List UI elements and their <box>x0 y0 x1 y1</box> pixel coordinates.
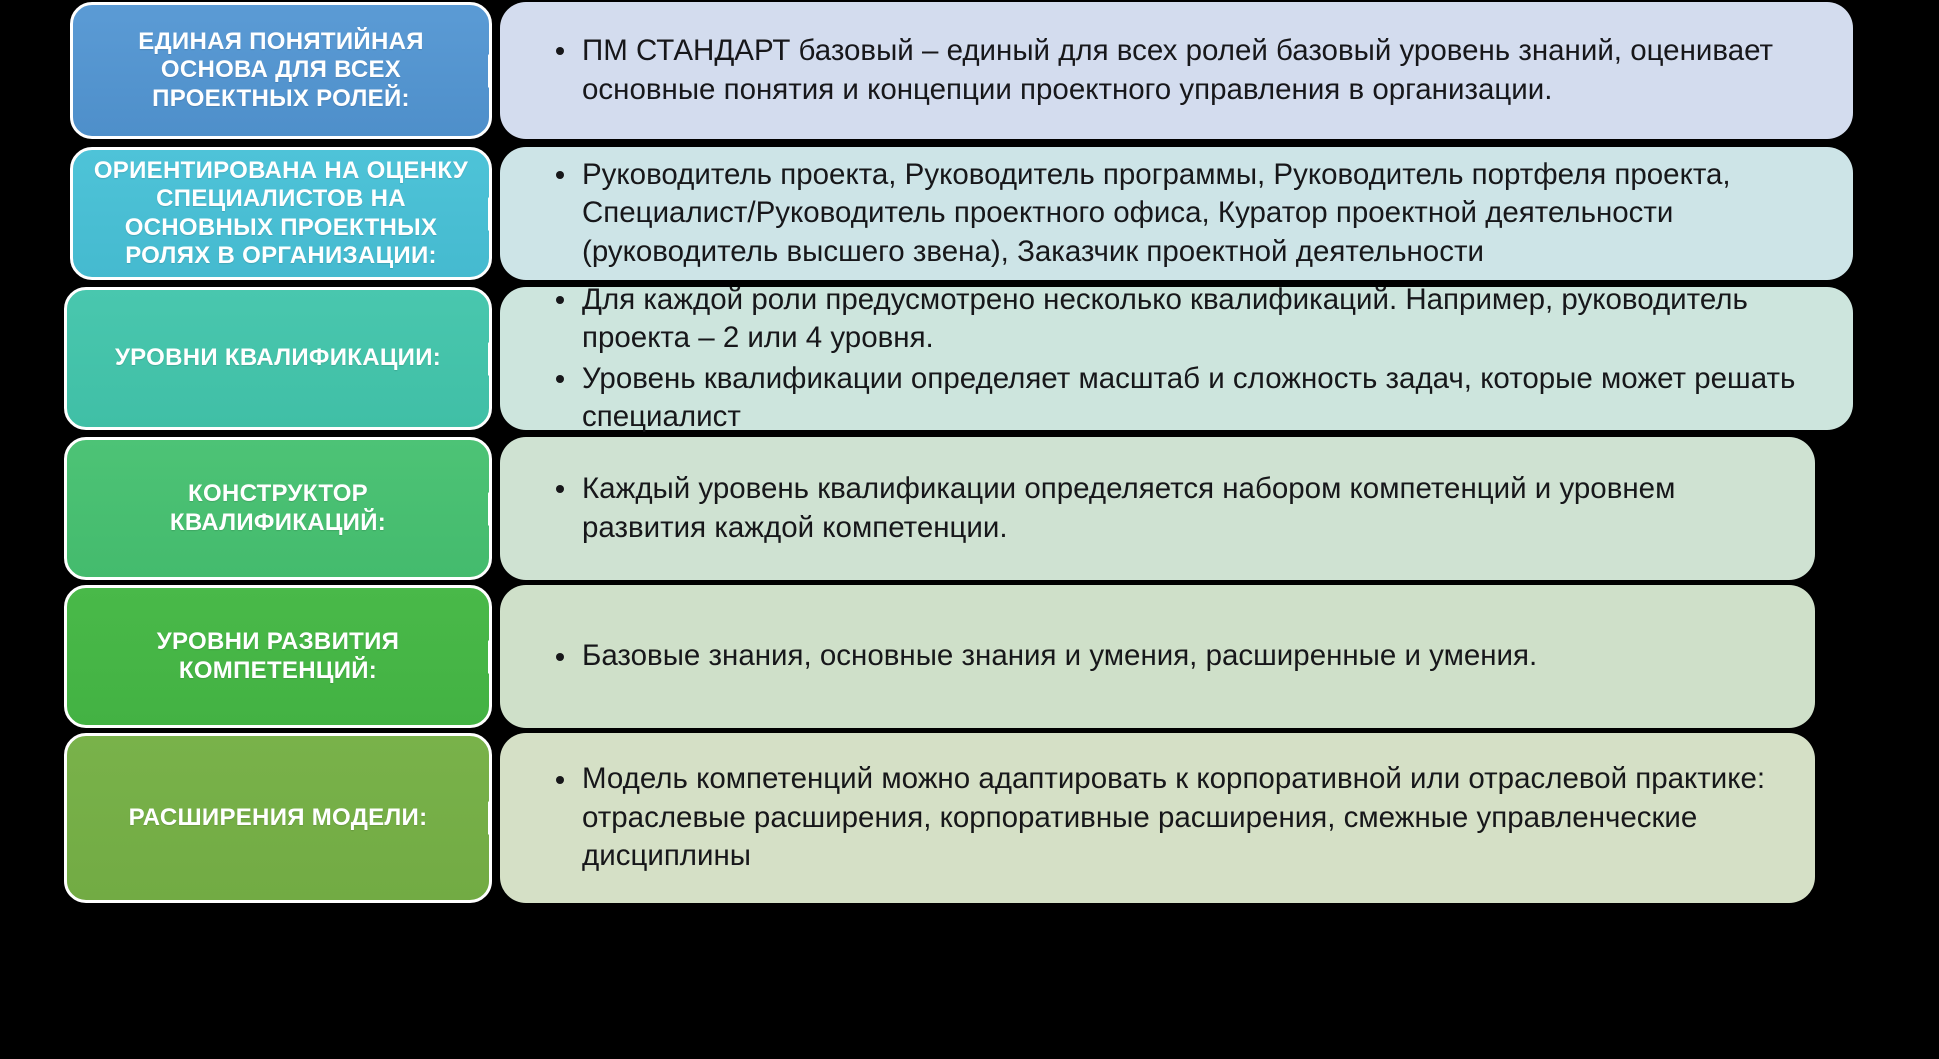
bullet-text: Руководитель проекта, Руководитель прогр… <box>582 158 1731 268</box>
row-content-block: Руководитель проекта, Руководитель прогр… <box>500 147 1853 280</box>
bullet-dot-icon <box>556 171 564 179</box>
row-label-block[interactable]: РАСШИРЕНИЯ МОДЕЛИ: <box>64 733 492 903</box>
bullet-dot-icon <box>556 485 564 493</box>
bullet-item: Каждый уровень квалификации определяется… <box>554 470 1769 547</box>
row-label-block[interactable]: УРОВНИ КВАЛИФИКАЦИИ: <box>64 287 492 430</box>
slide-canvas: ПМ СТАНДАРТ базовый – единый для всех ро… <box>0 0 1939 1059</box>
bullet-item: Базовые знания, основные знания и умения… <box>554 637 1769 675</box>
row-content-block: Каждый уровень квалификации определяется… <box>500 437 1815 580</box>
chevron-right-icon <box>488 197 492 231</box>
row-label-text: ОРИЕНТИРОВАНА НА ОЦЕНКУ СПЕЦИАЛИСТОВ НА … <box>91 157 471 270</box>
bullet-item: Для каждой роли предусмотрено несколько … <box>554 281 1807 358</box>
diagram-row: Для каждой роли предусмотрено несколько … <box>0 287 1939 430</box>
diagram-row: Базовые знания, основные знания и умения… <box>0 585 1939 728</box>
bullet-dot-icon <box>556 776 564 784</box>
bullet-text: Каждый уровень квалификации определяется… <box>582 472 1675 543</box>
row-label-block[interactable]: КОНСТРУКТОР КВАЛИФИКАЦИЙ: <box>64 437 492 580</box>
bullet-dot-icon <box>556 375 564 383</box>
bullet-text: ПМ СТАНДАРТ базовый – единый для всех ро… <box>582 34 1773 105</box>
diagram-row: Модель компетенций можно адаптировать к … <box>0 733 1939 903</box>
diagram-row: ПМ СТАНДАРТ базовый – единый для всех ро… <box>0 2 1939 139</box>
row-label-text: КОНСТРУКТОР КВАЛИФИКАЦИЙ: <box>85 480 471 537</box>
bullet-item: Уровень квалификации определяет масштаб … <box>554 360 1807 437</box>
row-content-block: ПМ СТАНДАРТ базовый – единый для всех ро… <box>500 2 1853 139</box>
bullet-text: Базовые знания, основные знания и умения… <box>582 639 1537 672</box>
chevron-right-icon <box>488 640 492 674</box>
diagram-row: Каждый уровень квалификации определяется… <box>0 437 1939 580</box>
row-label-text: РАСШИРЕНИЯ МОДЕЛИ: <box>85 804 471 832</box>
bullet-dot-icon <box>556 47 564 55</box>
bullet-item: Руководитель проекта, Руководитель прогр… <box>554 156 1807 271</box>
row-label-text: ЕДИНАЯ ПОНЯТИЙНАЯ ОСНОВА ДЛЯ ВСЕХ ПРОЕКТ… <box>91 28 471 113</box>
bullet-item: Модель компетенций можно адаптировать к … <box>554 760 1769 875</box>
row-label-block[interactable]: УРОВНИ РАЗВИТИЯ КОМПЕТЕНЦИЙ: <box>64 585 492 728</box>
chevron-right-icon <box>488 342 492 376</box>
bullet-text: Модель компетенций можно адаптировать к … <box>582 762 1765 872</box>
chevron-right-icon <box>488 801 492 835</box>
row-label-text: УРОВНИ РАЗВИТИЯ КОМПЕТЕНЦИЙ: <box>85 628 471 685</box>
bullet-dot-icon <box>556 653 564 661</box>
row-content-block: Для каждой роли предусмотрено несколько … <box>500 287 1853 430</box>
chevron-right-icon <box>488 54 492 88</box>
diagram-row: Руководитель проекта, Руководитель прогр… <box>0 147 1939 280</box>
bullet-item: ПМ СТАНДАРТ базовый – единый для всех ро… <box>554 32 1807 109</box>
row-label-block[interactable]: ЕДИНАЯ ПОНЯТИЙНАЯ ОСНОВА ДЛЯ ВСЕХ ПРОЕКТ… <box>70 2 492 139</box>
bullet-dot-icon <box>556 296 564 304</box>
row-content-block: Базовые знания, основные знания и умения… <box>500 585 1815 728</box>
row-content-block: Модель компетенций можно адаптировать к … <box>500 733 1815 903</box>
row-label-text: УРОВНИ КВАЛИФИКАЦИИ: <box>85 344 471 372</box>
bullet-text: Для каждой роли предусмотрено несколько … <box>582 283 1748 354</box>
bullet-text: Уровень квалификации определяет масштаб … <box>582 362 1795 433</box>
row-label-block[interactable]: ОРИЕНТИРОВАНА НА ОЦЕНКУ СПЕЦИАЛИСТОВ НА … <box>70 147 492 280</box>
chevron-right-icon <box>488 492 492 526</box>
